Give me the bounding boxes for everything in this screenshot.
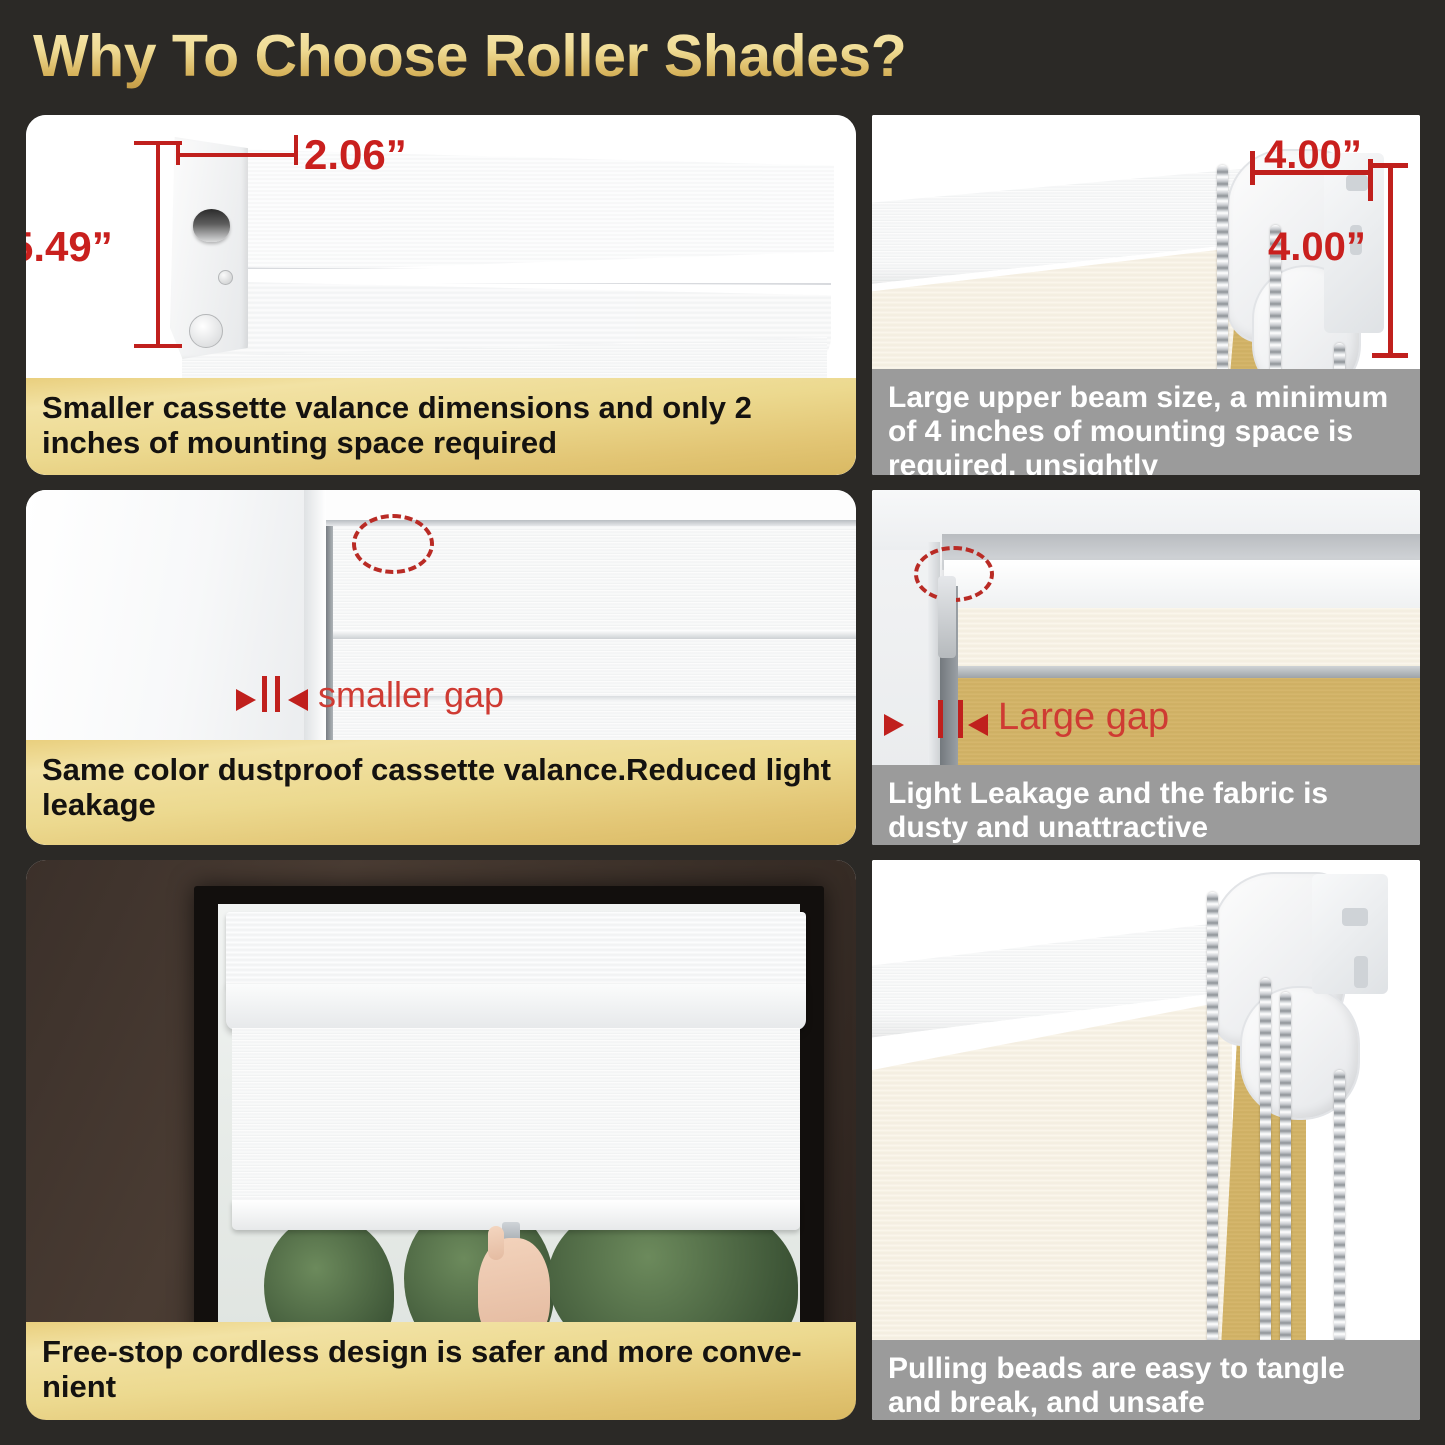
bracket-notch-top: [1342, 908, 1368, 926]
gap-arrow-left: [236, 689, 256, 711]
cassette-divider: [326, 630, 856, 639]
window-casing-edge: [304, 490, 326, 758]
panel-4-caption: Light Leakage and the fabric is dusty an…: [872, 765, 1420, 845]
large-gap-tick-a: [938, 700, 943, 738]
gap-arrow-right: [288, 689, 308, 711]
beam-width-tick-left: [1250, 151, 1255, 185]
panel-pro-cassette-dimensions: 2.06” 5.49” Smaller cassette valance dim…: [26, 115, 856, 475]
bead-chain-loop: [1334, 1070, 1345, 1370]
panel-5-caption: Free-stop cordless design is safer and m…: [26, 1322, 856, 1420]
bead-chain-right: [1280, 992, 1291, 1370]
dim-width-tick-right: [294, 135, 298, 165]
gap-tick-a: [262, 676, 267, 712]
valance-roller-socket: [193, 209, 230, 242]
large-gap-tick-b: [958, 700, 963, 738]
bracket-mount-plate: [1312, 874, 1388, 994]
panel-2-caption: Large upper beam size, a minimum of 4 in…: [872, 369, 1420, 475]
panel-con-large-beam: 4.00” 4.00” Large upper beam size, a min…: [872, 115, 1420, 475]
cassette-valance: [226, 912, 806, 988]
valance-slot: [176, 267, 831, 285]
beam-dimension-width: 4.00”: [1264, 133, 1362, 178]
shade-panel: [232, 1028, 800, 1208]
finger-index: [488, 1226, 504, 1260]
large-gap-arrow-left: [884, 714, 904, 736]
panel-1-caption: Smaller cassette valance dimensions and …: [26, 378, 856, 475]
dimension-label-width: 2.06”: [304, 131, 407, 179]
large-gap-arrow-right: [968, 714, 988, 736]
panel-con-light-leakage: Large gap Light Leakage and the fabric i…: [872, 490, 1420, 845]
dim-height-tick-top: [134, 141, 182, 145]
gap-highlight-ellipse: [352, 514, 434, 574]
large-gap-label: Large gap: [998, 696, 1169, 739]
beam-height-tick-top: [1372, 163, 1408, 168]
beam-height-tick-bottom: [1372, 353, 1408, 358]
panel-6-caption: Pulling beads are easy to tangle and bre…: [872, 1340, 1420, 1420]
infographic-page: Why To Choose Roller Shades? 2.06”: [0, 0, 1445, 1445]
valance-screw: [218, 270, 233, 285]
beam-height-vert: [1388, 165, 1393, 357]
dim-height-tick-bottom: [134, 344, 182, 348]
dim-height-vert: [156, 143, 160, 348]
shade-fabric-front: [872, 1000, 1232, 1370]
panel-con-pull-beads: Pulling beads are easy to tangle and bre…: [872, 860, 1420, 1420]
smaller-gap-label: smaller gap: [318, 674, 504, 716]
panel-6-art: [872, 860, 1420, 1420]
dimension-label-height: 5.49”: [26, 223, 113, 271]
upper-beam: [944, 560, 1420, 612]
beam-dimension-height: 4.00”: [1268, 225, 1366, 270]
valance-upper-body: [174, 145, 834, 275]
light-gap-strip: [326, 526, 333, 769]
panel-pro-small-gap: smaller gap Same color dustproof cassett…: [26, 490, 856, 845]
bead-chain-left: [1207, 892, 1218, 1370]
panel-pro-cordless: Free-stop cordless design is safer and m…: [26, 860, 856, 1420]
valance-lip: [226, 984, 806, 1030]
gap-tick-b: [275, 676, 280, 712]
valance-pivot: [189, 314, 223, 348]
window-casing: [26, 490, 326, 758]
beam-cream-face: [950, 608, 1420, 668]
bracket-notch-mid: [1354, 956, 1368, 988]
bead-chain-middle: [1260, 978, 1271, 1370]
panel-3-caption: Same color dustproof cassette valance.Re…: [26, 740, 856, 845]
beam-bottom-rail: [944, 666, 1420, 678]
page-title: Why To Choose Roller Shades?: [33, 22, 906, 90]
bracket-clip: [938, 576, 956, 658]
dim-width-line: [178, 153, 298, 157]
